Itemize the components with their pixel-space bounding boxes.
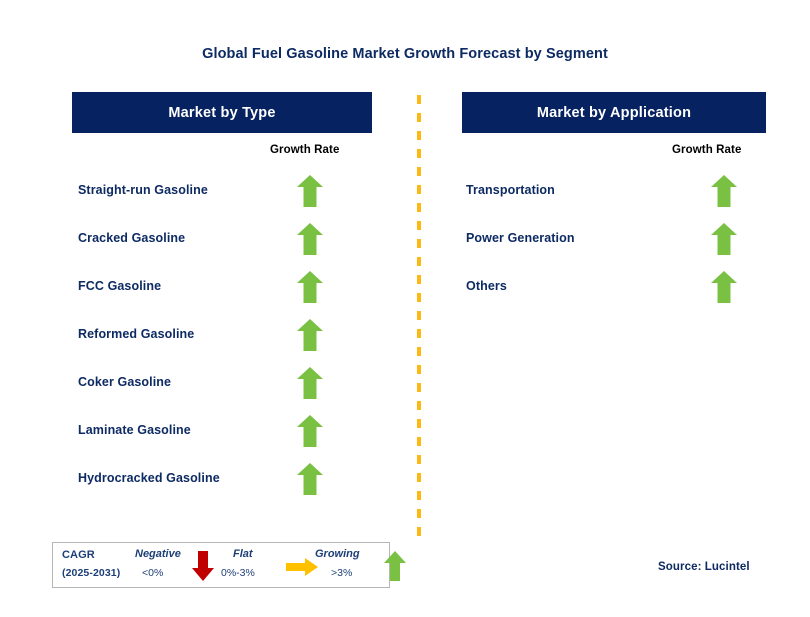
legend-item-flat: Flat 0%-3% [217, 543, 313, 587]
arrow-up-icon [296, 366, 324, 400]
arrow-down-icon [191, 550, 215, 582]
legend-item-label: Negative [135, 548, 181, 560]
table-row: Coker Gasoline [0, 368, 810, 416]
panel-header-market-by-type: Market by Type [72, 92, 372, 133]
legend-item-label: Growing [315, 548, 360, 560]
table-row: Transportation [0, 176, 810, 224]
legend-item-value: >3% [331, 567, 352, 579]
growth-rate-label-type: Growth Rate [270, 144, 339, 156]
arrow-up-icon [296, 318, 324, 352]
arrow-up-icon [296, 414, 324, 448]
row-label: Power Generation [466, 231, 575, 245]
table-row: Others [0, 272, 810, 320]
arrow-up-icon [383, 550, 407, 582]
row-label: Laminate Gasoline [78, 423, 191, 437]
row-list-market-by-application: Transportation Power Generation Others [0, 176, 810, 320]
table-row: Power Generation [0, 224, 810, 272]
legend-item-growing: Growing >3% [311, 543, 407, 587]
page-title: Global Fuel Gasoline Market Growth Forec… [0, 46, 810, 62]
legend-item-value: <0% [142, 567, 163, 579]
panel-market-by-type: Market by Type [72, 92, 372, 133]
panel-header-market-by-application: Market by Application [462, 92, 766, 133]
row-label: Transportation [466, 183, 555, 197]
row-label: Hydrocracked Gasoline [78, 471, 220, 485]
source-note: Source: Lucintel [658, 561, 750, 573]
row-label: Others [466, 279, 507, 293]
legend-cagr-title: CAGR [62, 549, 95, 561]
table-row: Reformed Gasoline [0, 320, 810, 368]
arrow-up-icon [296, 462, 324, 496]
cagr-legend: CAGR (2025-2031) Negative <0% Flat 0%-3%… [52, 542, 390, 588]
arrow-up-icon [710, 174, 738, 208]
table-row: Hydrocracked Gasoline [0, 464, 810, 512]
legend-cagr-years: (2025-2031) [62, 567, 120, 579]
legend-item-value: 0%-3% [221, 567, 255, 579]
row-label: Reformed Gasoline [78, 327, 194, 341]
legend-item-negative: Negative <0% [131, 543, 221, 587]
arrow-up-icon [710, 270, 738, 304]
legend-item-label: Flat [233, 548, 253, 560]
row-label: Coker Gasoline [78, 375, 171, 389]
table-row: Laminate Gasoline [0, 416, 810, 464]
panel-market-by-application: Market by Application [462, 92, 766, 133]
arrow-up-icon [710, 222, 738, 256]
growth-rate-label-application: Growth Rate [672, 144, 741, 156]
